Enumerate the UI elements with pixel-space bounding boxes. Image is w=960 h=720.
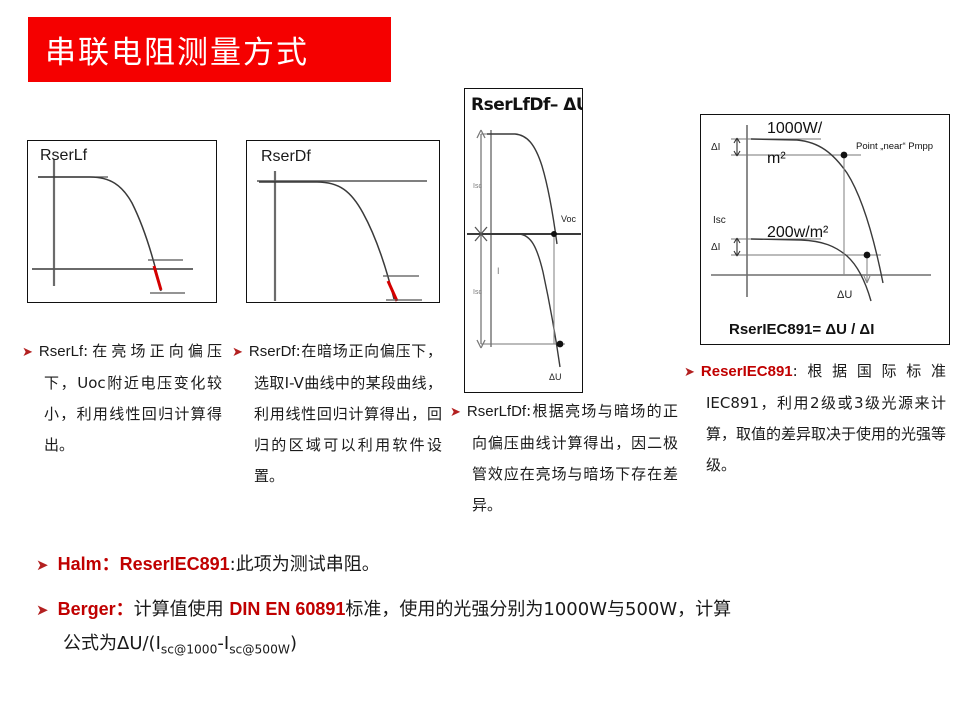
bullet-icon: ➤ [450, 405, 461, 420]
pmpp-note-label: Point „near“ Pmpp [856, 141, 933, 152]
chart-rserlfdf: Isc Isc I Voc ΔU [465, 122, 582, 390]
light-curve [487, 134, 557, 244]
axis-isc-upper-label: Isc [473, 183, 482, 190]
term-rserlf: RserLf [39, 343, 83, 360]
formula-sub-1: sc@1000 [161, 643, 217, 657]
voc-label: Voc [561, 214, 577, 224]
figure-panel-rserlf: RserLf [27, 140, 217, 303]
figure-title-rserlfdf: RserLfDf– ΔU / Isc [471, 95, 583, 115]
delta-u-point [557, 341, 564, 348]
bullet-icon: ➤ [22, 345, 33, 360]
regression-highlight [388, 281, 397, 301]
bullet-icon: ➤ [36, 556, 49, 574]
formula-prefix: 公式为ΔU/(I [63, 633, 161, 654]
delta-i-arrow-bottom [734, 238, 740, 256]
chart-iec891: 1000W/ m² 200w/m² ΔI ΔI Isc ΔU Point „ne… [701, 115, 949, 310]
figure-bottom-title-iec891: RserIEC891= ΔU / ΔI [729, 321, 874, 338]
bullet-berger: ➤Berger：计算值使用 DIN EN 60891标准，使用的光强分别为100… [36, 592, 936, 667]
chart-rserlf [28, 141, 216, 302]
irradiance-1000-label-line1: 1000W/ [767, 120, 823, 137]
title-banner: 串联电阻测量方式 [28, 17, 391, 82]
delta-u-label: ΔU [837, 289, 852, 301]
iv-curve [259, 182, 394, 299]
irradiance-1000-label-line2: m² [767, 150, 786, 167]
description-rserdf: ➤RserDf:在暗场正向偏压下，选取I-V曲线中的某段曲线，利用线性回归计算得… [232, 336, 442, 492]
voc-point [551, 231, 557, 237]
description-iec891: ➤ReserIEC891:根据国际标准IEC891，利用2级或3级光源来计算，取… [684, 356, 946, 481]
irradiance-200-label: 200w/m² [767, 224, 829, 241]
page-title: 串联电阻测量方式 [45, 27, 309, 72]
halm-term: ReserIEC891 [120, 554, 230, 574]
figure-panel-rserdf: RserDf [246, 140, 440, 303]
bullet-icon: ➤ [684, 365, 695, 380]
formula-suffix: ) [290, 633, 297, 654]
figure-caption-rserdf: RserDf [261, 148, 311, 166]
formula-mid: -I [217, 633, 229, 654]
delta-u-label: ΔU [549, 372, 562, 382]
bullet-icon: ➤ [36, 601, 49, 619]
term-rserlfdf: RserLfDf [467, 403, 526, 420]
berger-text-before: 计算值使用 [134, 599, 230, 620]
delta-i-arrow-top [734, 138, 740, 156]
berger-formula: 公式为ΔU/(Isc@1000-Isc@500W) [36, 627, 936, 667]
description-rserlfdf: ➤RserLfDf:根据亮场与暗场的正向偏压曲线计算得出，因二极管效应在亮场与暗… [450, 396, 678, 521]
figure-caption-rserlf: RserLf [40, 147, 87, 165]
pmpp-point-200 [864, 252, 871, 259]
axis-isc-lower-label: Isc [473, 289, 482, 296]
formula-sub-2: sc@500W [229, 643, 290, 657]
figure-panel-rserlfdf: RserLfDf– ΔU / Isc Isc Isc I Voc ΔU [464, 88, 583, 393]
dark-curve [489, 234, 560, 367]
pmpp-point-1000 [841, 152, 848, 159]
figure-panel-iec891: 1000W/ m² 200w/m² ΔI ΔI Isc ΔU Point „ne… [700, 114, 950, 345]
halm-body: :此项为测试串阻。 [230, 554, 380, 575]
description-rserlf: ➤RserLf:在亮场正向偏压下，Uoc附近电压变化较小，利用线性回归计算得出。 [22, 336, 222, 461]
delta-i-label-bottom: ΔI [711, 242, 720, 253]
curve-200w [751, 239, 871, 301]
berger-standard: DIN EN 60891 [229, 599, 345, 619]
axis-i-label: I [497, 266, 500, 276]
isc-label: Isc [713, 215, 726, 226]
term-rserdf: RserDf [249, 343, 296, 360]
bullet-icon: ➤ [232, 345, 243, 360]
delta-i-label-top: ΔI [711, 142, 720, 153]
description-body-rserdf: :在暗场正向偏压下，选取I-V曲线中的某段曲线，利用线性回归计算得出，回归的区域… [254, 342, 442, 485]
iv-curve [38, 177, 161, 291]
berger-label: Berger： [58, 599, 134, 619]
term-resericec891: ReserIEC891 [701, 363, 793, 380]
berger-text-after: 标准，使用的光强分别为1000W与500W，计算 [345, 599, 731, 620]
halm-label: Halm： [58, 554, 120, 574]
bullet-halm: ➤Halm：ReserIEC891:此项为测试串阻。 [36, 547, 916, 582]
